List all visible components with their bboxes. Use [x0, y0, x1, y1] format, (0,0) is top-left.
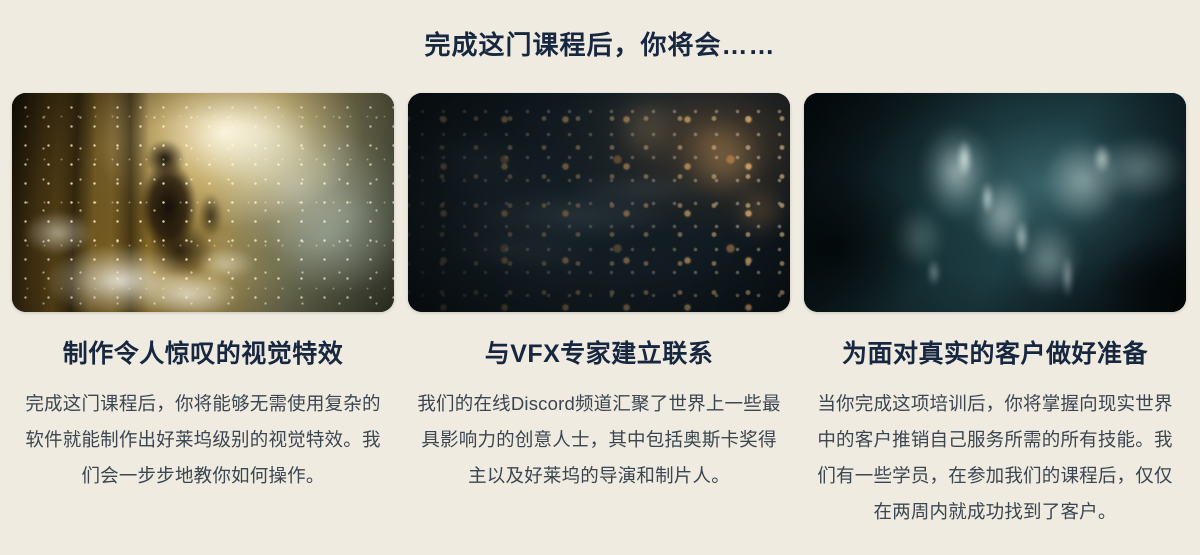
teal-smoke-swirl-photo	[804, 93, 1186, 312]
benefit-card-title: 与VFX专家建立联系	[485, 338, 714, 370]
thumb-vignette-layer	[804, 93, 1186, 312]
benefit-card-title: 为面对真实的客户做好准备	[842, 338, 1148, 370]
benefit-card: 制作令人惊叹的视觉特效 完成这门课程后，你将能够无需使用复杂的软件就能制作出好莱…	[12, 93, 394, 494]
benefit-card-body: 当你完成这项培训后，你将掌握向现实世界中的客户推销自己服务所需的所有技能。我们有…	[811, 386, 1179, 530]
section-heading: 完成这门课程后，你将会……	[0, 28, 1200, 62]
thumb-vignette-layer	[12, 93, 394, 312]
benefit-card-body: 完成这门课程后，你将能够无需使用复杂的软件就能制作出好莱坞级别的视觉特效。我们会…	[19, 386, 387, 494]
runner-in-golden-waterfall-photo	[12, 93, 394, 312]
benefit-card-body: 我们的在线Discord频道汇聚了世界上一些最具影响力的创意人士，其中包括奥斯卡…	[415, 386, 783, 494]
benefit-cards-row: 制作令人惊叹的视觉特效 完成这门课程后，你将能够无需使用复杂的软件就能制作出好莱…	[12, 93, 1188, 530]
benefit-card: 为面对真实的客户做好准备 当你完成这项培训后，你将掌握向现实世界中的客户推销自己…	[804, 93, 1186, 530]
benefits-section: 完成这门课程后，你将会…… 制作令人惊叹的视觉特效 完成这门课程后，你将能够无需…	[0, 0, 1200, 555]
benefit-card: 与VFX专家建立联系 我们的在线Discord频道汇聚了世界上一些最具影响力的创…	[408, 93, 790, 494]
golden-sparks-nebula-photo	[408, 93, 790, 312]
benefit-card-title: 制作令人惊叹的视觉特效	[63, 338, 344, 370]
thumb-vignette-layer	[408, 93, 790, 312]
